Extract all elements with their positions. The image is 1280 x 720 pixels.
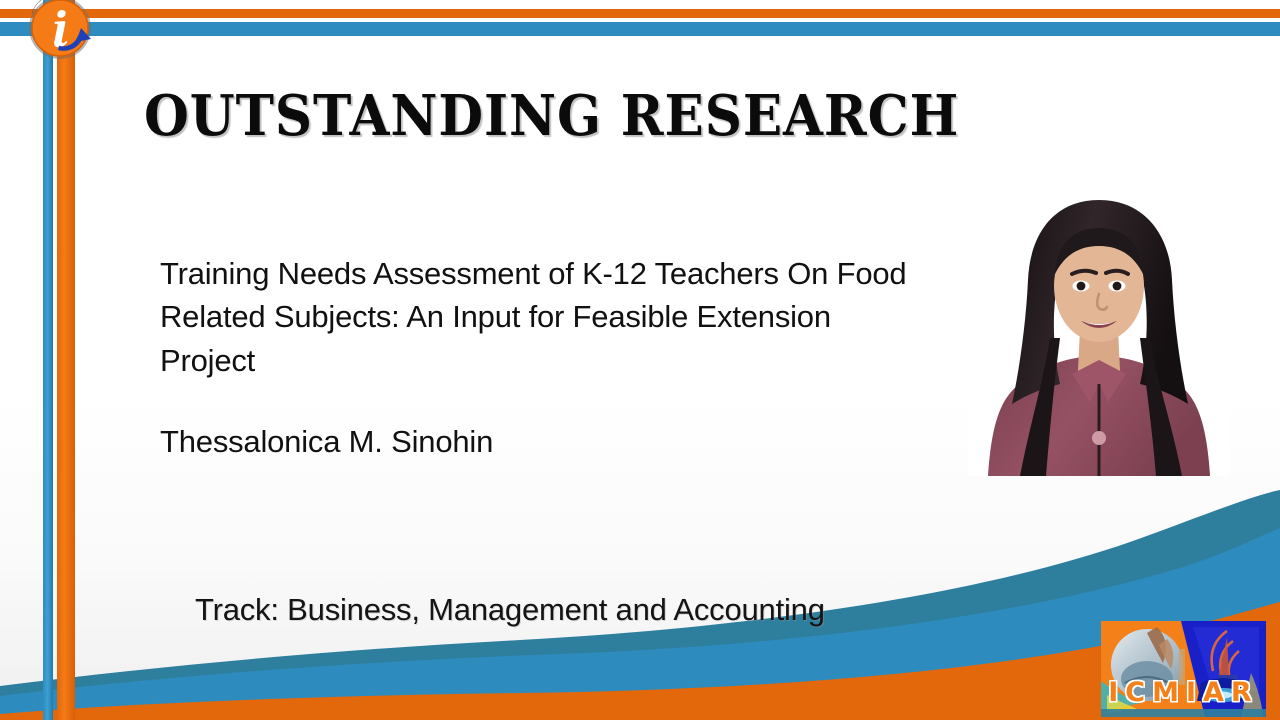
information-i-logo: [24, 0, 96, 64]
page-title: OUTSTANDING RESEARCH: [144, 88, 959, 144]
presentation-slide: OUTSTANDING RESEARCH Training Needs Asse…: [0, 0, 1280, 720]
track-label: Track: Business, Management and Accounti…: [195, 592, 825, 628]
left-blue-vertical-bar: [43, 0, 53, 720]
icmiar-logo: ICMIAR: [1101, 621, 1266, 717]
research-info-block: Training Needs Assessment of K-12 Teache…: [160, 252, 930, 464]
research-title: Training Needs Assessment of K-12 Teache…: [160, 252, 930, 382]
author-name: Thessalonica M. Sinohin: [160, 420, 930, 463]
presenter-portrait-photo: [968, 188, 1230, 476]
left-orange-vertical-bar: [57, 0, 75, 720]
top-blue-stripe: [0, 22, 1280, 36]
top-orange-stripe: [0, 9, 1280, 18]
